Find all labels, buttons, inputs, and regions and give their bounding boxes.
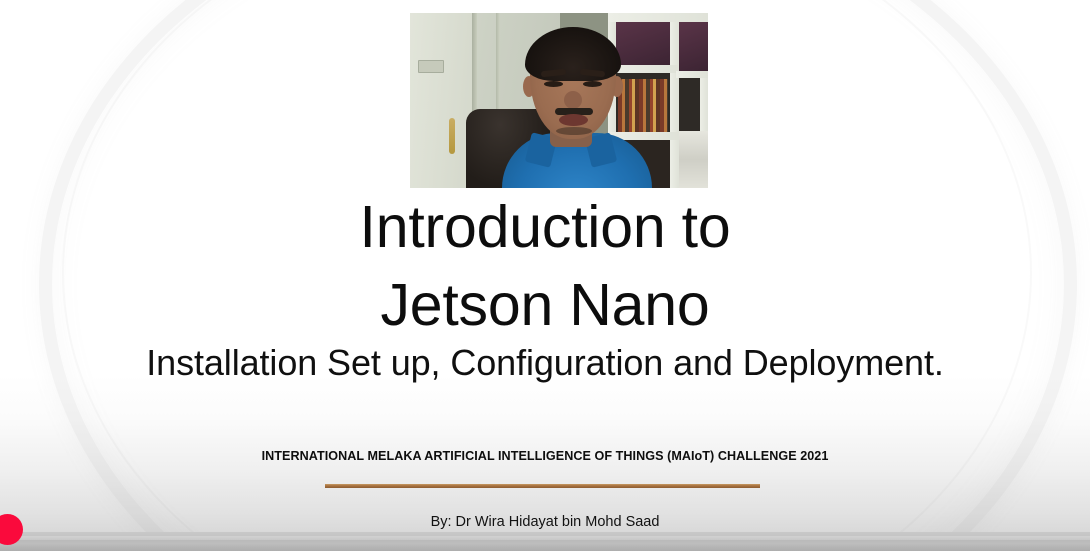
event-heading: INTERNATIONAL MELAKA ARTIFICIAL INTELLIG… [0,449,1090,463]
webcam-presenter-nose [564,91,582,109]
slide-title-line-1: Introduction to [0,188,1090,266]
webcam-door [410,13,472,188]
webcam-shelf-board-3 [676,71,708,78]
slide-title-line-2: Jetson Nano [0,266,1090,344]
slide-title: Introduction to Jetson Nano [0,188,1090,344]
webcam-shelf-top [608,13,708,22]
player-bottom-bar-highlight [0,536,1090,540]
webcam-presenter-eye-right [583,81,602,87]
webcam-wall-switch [418,60,444,73]
slide-subtitle: Installation Set up, Configuration and D… [0,342,1090,384]
webcam-presenter-mouth [559,114,588,126]
webcam-shelf-divider [670,13,679,188]
divider-rule [325,484,760,488]
player-bottom-bar[interactable] [0,532,1090,551]
webcam-shelf-contents-top [616,22,670,65]
webcam-shelf-right-top [679,22,708,71]
webcam-door-handle [449,118,455,154]
webcam-shelf-books [618,79,668,132]
presenter-byline: By: Dr Wira Hidayat bin Mohd Saad [0,514,1090,530]
webcam-presenter-eye-left [544,81,563,87]
slide-recording-viewport: Introduction to Jetson Nano Installation… [0,0,1090,551]
presenter-webcam-overlay[interactable] [410,13,708,188]
webcam-shelf-papers [679,131,708,188]
webcam-presenter-chin-shadow [556,127,592,135]
